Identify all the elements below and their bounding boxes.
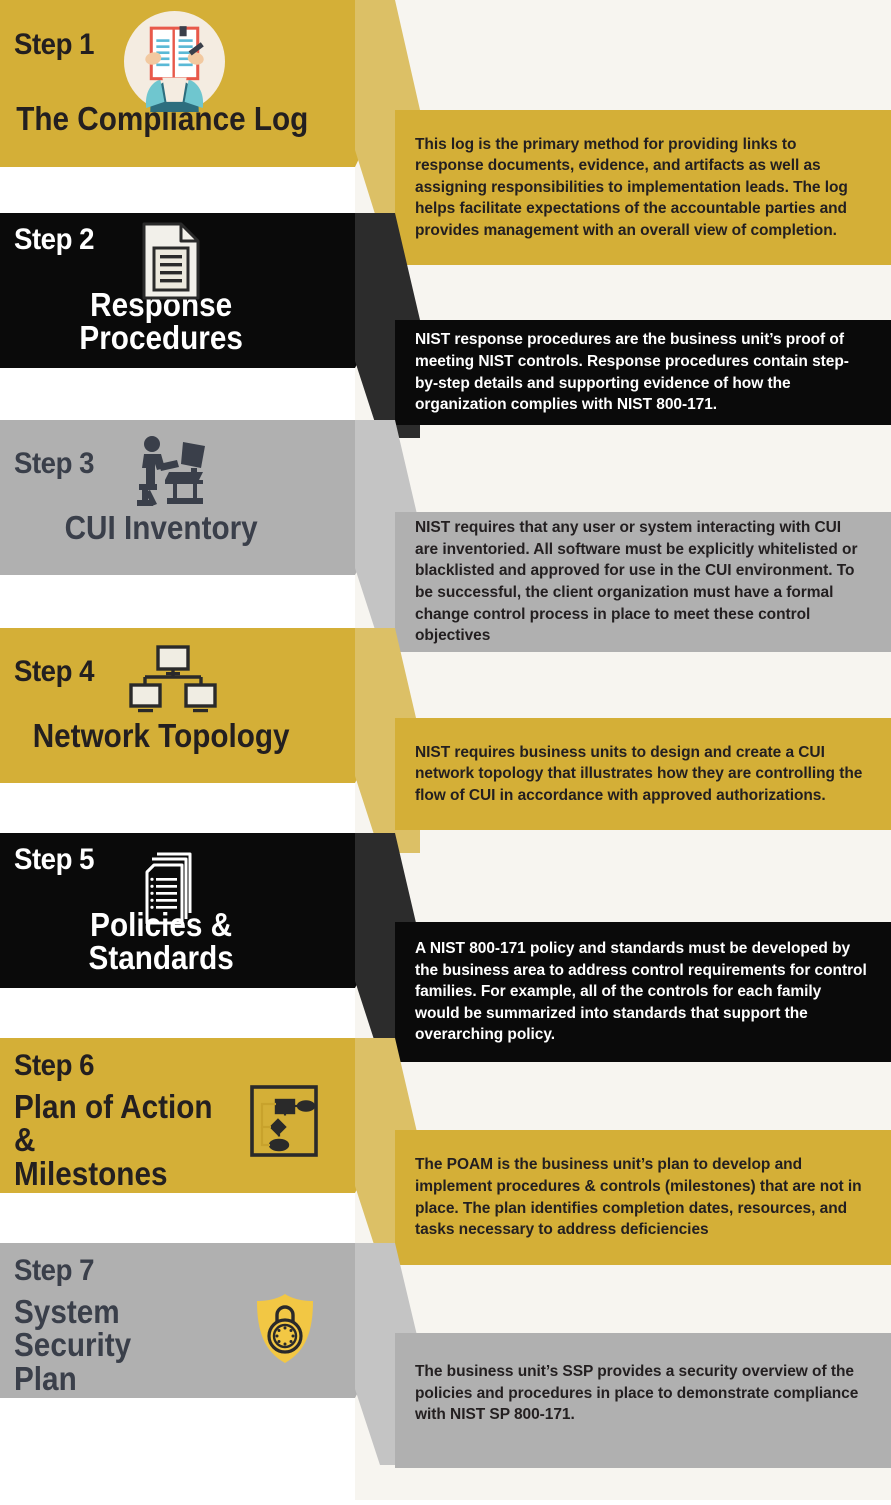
step-7-title-bar[interactable]: Step 7 System Security Plan — [0, 1243, 395, 1398]
flowchart-icon — [249, 1084, 319, 1158]
step-5-description-panel: A NIST 800-171 policy and standards must… — [395, 922, 891, 1062]
step-1-description-panel: This log is the primary method for provi… — [395, 110, 891, 265]
step-3-body-text: NIST requires that any user or system in… — [415, 517, 867, 646]
step-2-description-panel: NIST response procedures are the busines… — [395, 320, 891, 425]
step-5-body-text: A NIST 800-171 policy and standards must… — [415, 938, 867, 1046]
step-7-title: System Security Plan — [14, 1295, 235, 1396]
shield-padlock-icon — [254, 1293, 316, 1365]
step-4-title: Network Topology — [14, 719, 308, 753]
step-4-description-panel: NIST requires business units to design a… — [395, 718, 891, 830]
person-reading-document-icon — [124, 11, 225, 112]
step-6-number: Step 6 — [14, 1050, 315, 1082]
step-3-title: CUI Inventory — [14, 511, 308, 545]
step-7-description-panel: The business unit’s SSP provides a secur… — [395, 1333, 891, 1468]
network-topology-icon — [128, 645, 218, 718]
step-6-title-bar[interactable]: Step 6 Plan of Action & Milestones — [0, 1038, 395, 1193]
step-4-body-text: NIST requires business units to design a… — [415, 742, 867, 807]
step-7-number: Step 7 — [14, 1255, 315, 1287]
step-6-title: Plan of Action & Milestones — [14, 1090, 235, 1191]
person-at-computer-icon — [131, 434, 211, 506]
step-6-description-panel: The POAM is the business unit’s plan to … — [395, 1130, 891, 1265]
step-1-body-text: This log is the primary method for provi… — [415, 134, 867, 242]
step-7-body-text: The business unit’s SSP provides a secur… — [415, 1361, 867, 1426]
step-2-body-text: NIST response procedures are the busines… — [415, 329, 867, 415]
document-page-icon — [141, 222, 201, 300]
step-6-body-text: The POAM is the business unit’s plan to … — [415, 1154, 867, 1240]
stacked-documents-icon — [140, 851, 204, 927]
step-3-description-panel: NIST requires that any user or system in… — [395, 512, 891, 652]
